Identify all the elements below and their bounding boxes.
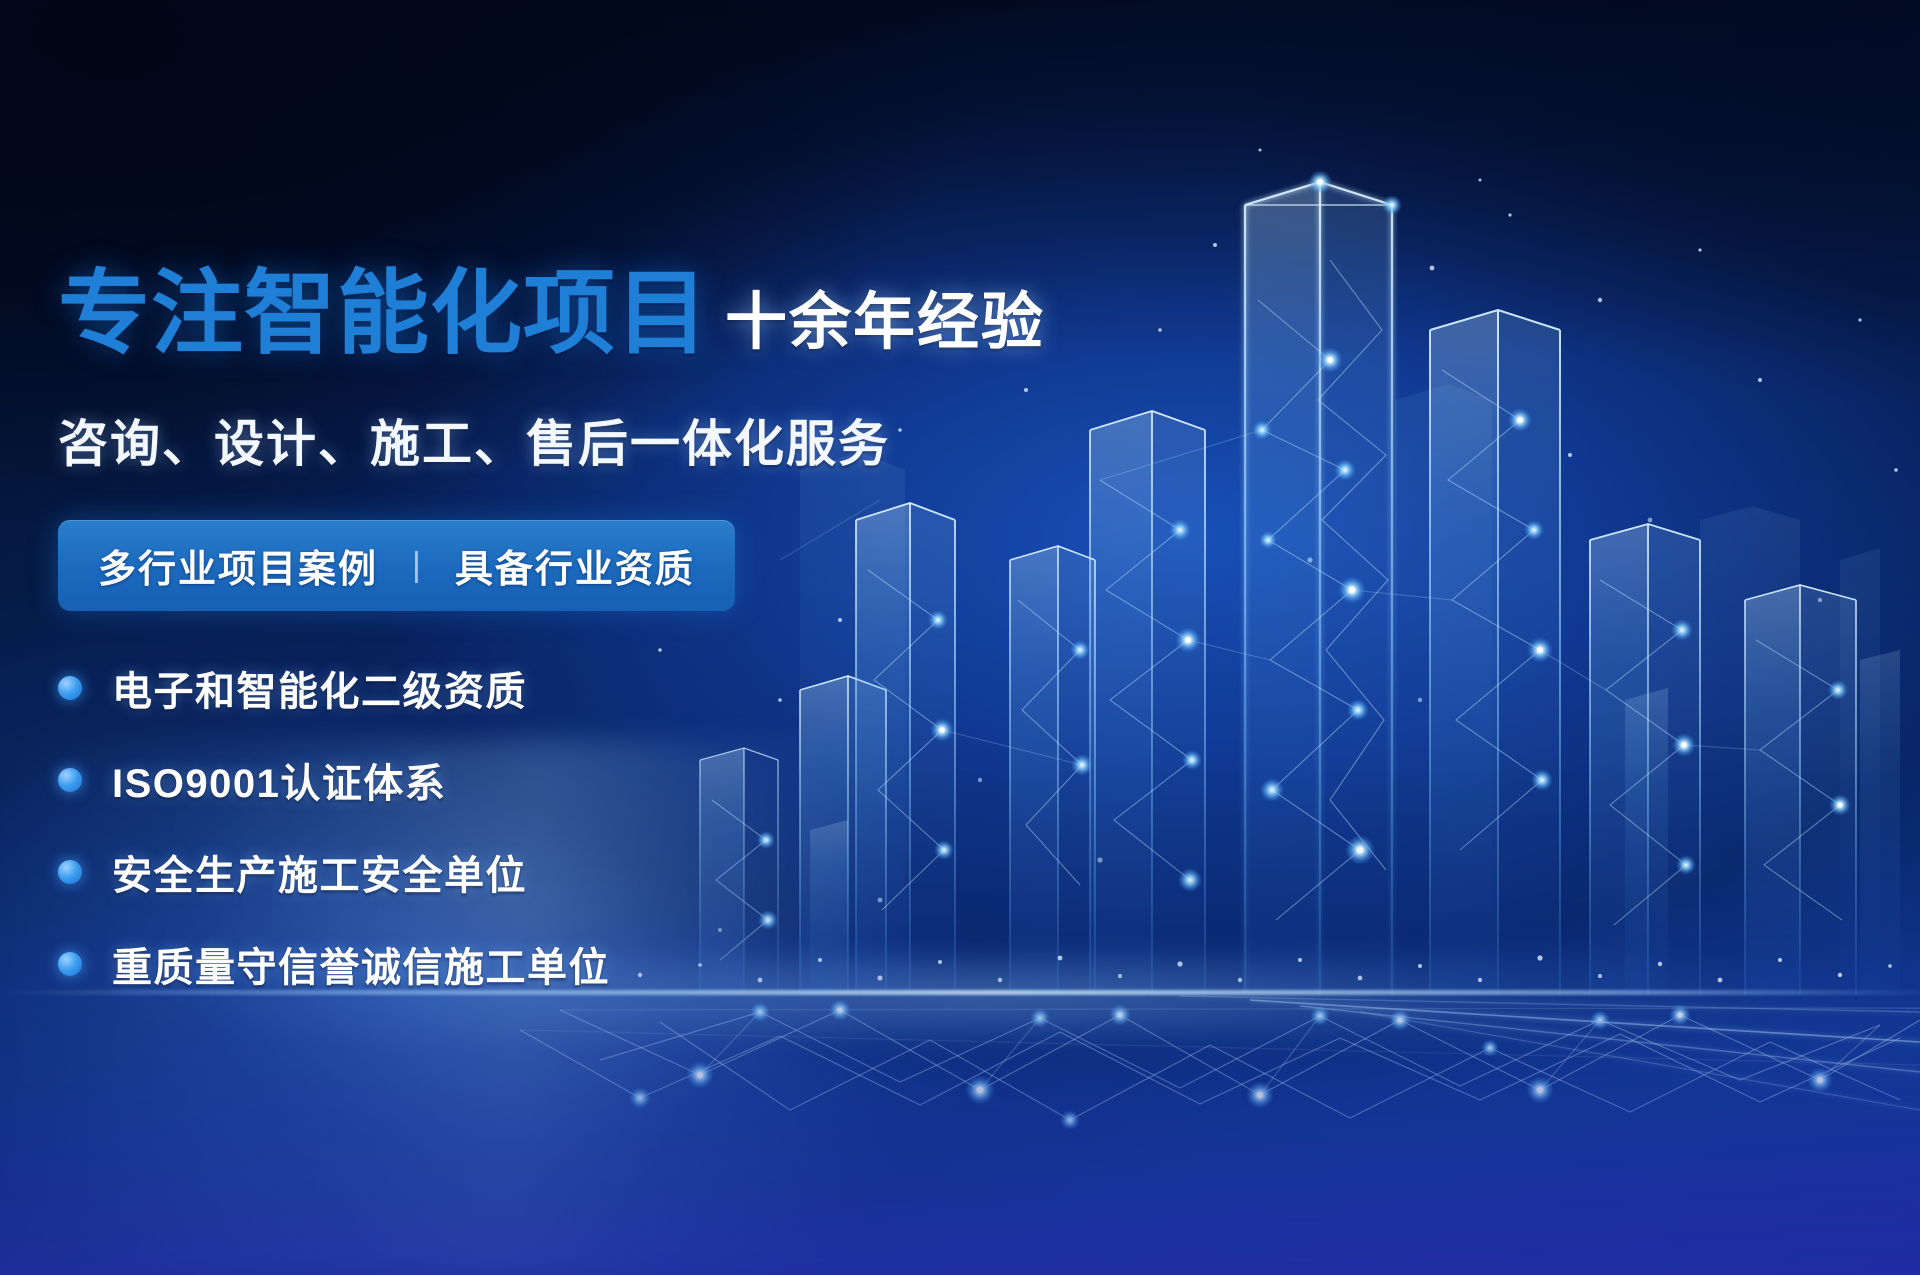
bullet-dot-icon — [58, 676, 82, 700]
badge-label-cases: 多行业项目案例 — [98, 538, 378, 593]
bullet-dot-icon — [58, 952, 82, 976]
bullet-dot-icon — [58, 768, 82, 792]
headline: 专注智能化项目 十余年经验 — [58, 268, 1118, 360]
credential-label: 安全生产施工安全单位 — [112, 843, 527, 901]
list-item: 安全生产施工安全单位 — [58, 843, 1118, 901]
list-item: 电子和智能化二级资质 — [58, 659, 1118, 717]
credentials-list: 电子和智能化二级资质 ISO9001认证体系 安全生产施工安全单位 重质量守信誉… — [58, 659, 1118, 993]
list-item: ISO9001认证体系 — [58, 751, 1118, 809]
subtitle-text: 咨询、设计、施工、售后一体化服务 — [58, 404, 1118, 476]
bullet-dot-icon — [58, 860, 82, 884]
hero-banner: 专注智能化项目 十余年经验 咨询、设计、施工、售后一体化服务 多行业项目案例 |… — [0, 0, 1920, 1275]
badge-label-qualification: 具备行业资质 — [455, 538, 695, 593]
headline-secondary-text: 十余年经验 — [725, 292, 1045, 360]
hero-content: 专注智能化项目 十余年经验 咨询、设计、施工、售后一体化服务 多行业项目案例 |… — [58, 268, 1118, 1027]
badge-separator: | — [412, 546, 421, 585]
qualification-badge[interactable]: 多行业项目案例 | 具备行业资质 — [58, 520, 735, 611]
list-item: 重质量守信誉诚信施工单位 — [58, 935, 1118, 993]
credential-label: 电子和智能化二级资质 — [112, 659, 527, 717]
credential-label: 重质量守信誉诚信施工单位 — [112, 935, 610, 993]
headline-primary-text: 专注智能化项目 — [58, 268, 709, 360]
credential-label: ISO9001认证体系 — [112, 751, 446, 809]
